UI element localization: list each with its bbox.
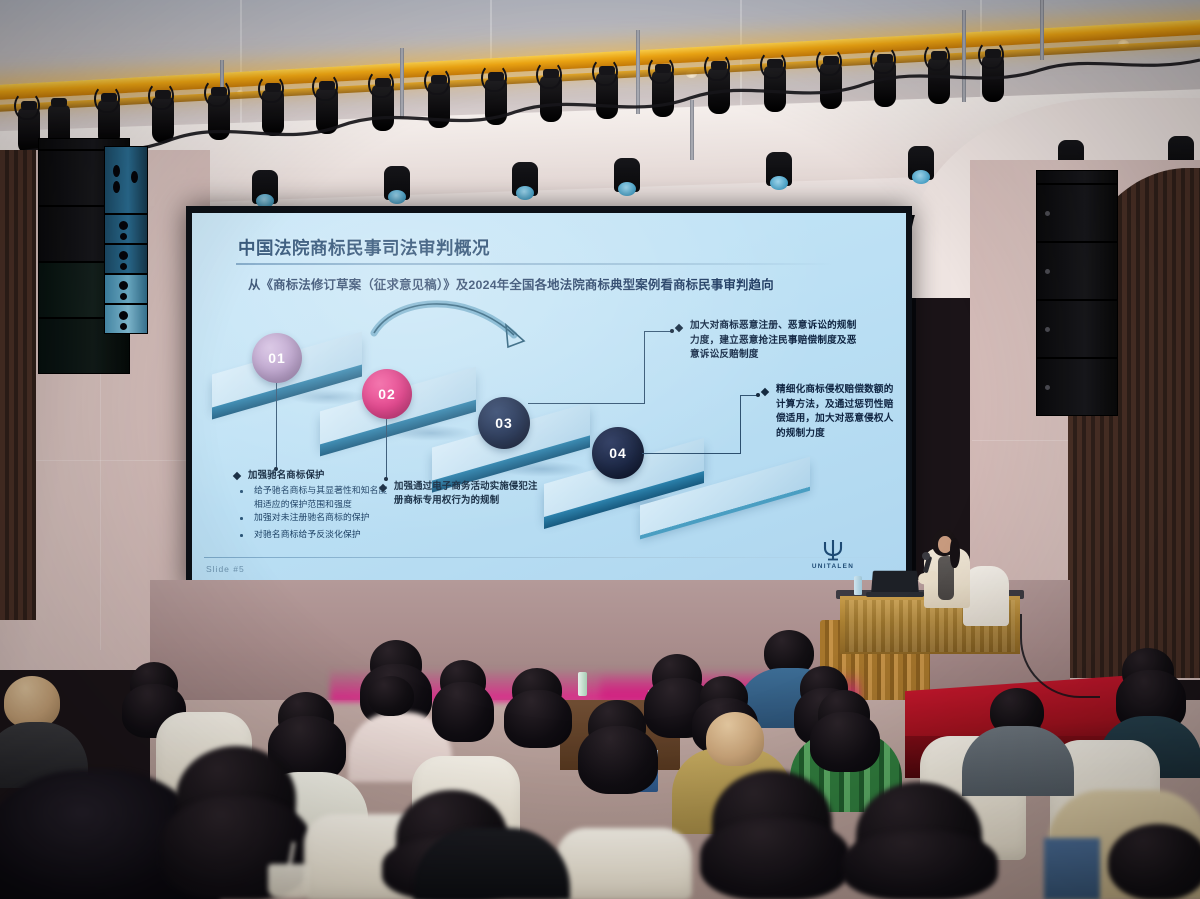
connector-04-h [642,453,740,454]
bullet-diamond-icon [233,472,241,480]
unitalen-logo: UNITALEN [806,538,860,570]
front-row-hair [700,818,850,899]
audience-head [368,676,414,716]
step-node-02: 02 [362,369,412,419]
microphone-head [922,552,930,560]
step-node-02-label: 02 [378,386,396,402]
audience-head-bald [706,712,764,766]
presenter-laptop [871,571,919,595]
stage-light-blue [766,152,792,186]
title-divider [236,263,836,265]
mini-bottle [578,672,587,696]
connector-01 [276,383,277,471]
step-node-03: 03 [478,397,530,449]
front-row-hair [842,830,998,899]
bullet-diamond-icon [675,324,683,332]
wall-seam [36,460,196,461]
sub-bullet-dot [240,490,243,493]
slide-footer-divider [204,557,894,558]
left-speaker-stack-blue-faces [104,146,148,334]
stage-light-blue [512,162,538,196]
projection-screen: 中国法院商标民事司法审判概况 从《商标法修订草案（征求意见稿）》及2024年全国… [186,206,912,592]
presenter-laptop-base [866,592,924,597]
step-node-04: 04 [592,427,644,479]
audience-head-bald [4,676,60,728]
right-bullet-1: 加大对商标恶意注册、恶意诉讼的规制力度，建立恶意抢注民事赔偿制度及恶意诉讼反赔制… [690,319,864,363]
drink-cup [268,864,310,898]
stage-light-blue [908,146,934,180]
stage-light-blue [614,158,640,192]
left-sub-bullet-1: 给予驰名商标与其显著性和知名度相适应的保护范围和强度 [254,484,396,511]
audience-hair [810,712,880,772]
connector-03-h2 [644,331,672,332]
audience-hair [578,726,658,794]
audience-hair [432,682,494,742]
connector-dot [756,393,760,397]
stage-light-blue [252,170,278,204]
presenter-hair-side [950,538,960,568]
audience-hair [504,690,572,748]
lighting-cable-run [0,40,1200,160]
sub-bullet-dot [240,534,243,537]
front-row-jeans [1044,838,1100,899]
left-sub-bullet-2: 加强对未注册驰名商标的保护 [254,511,404,525]
step-node-04-label: 04 [609,445,627,461]
water-bottle [854,576,862,595]
connector-03-v [644,331,645,404]
front-row-chair [556,828,692,899]
slide-number: Slide #5 [206,564,245,574]
left-slat-wall [0,150,36,620]
connector-dot [670,329,674,333]
stage-light-blue [384,166,410,200]
step-node-01-label: 01 [268,350,286,366]
step-node-03-label: 03 [495,415,513,431]
slide-title: 中国法院商标民事司法审判概况 [238,235,490,260]
conference-hall-photo: 中国法院商标民事司法审判概况 从《商标法修订草案（征求意见稿）》及2024年全国… [0,0,1200,899]
wall-seam [100,360,101,650]
left-sub-bullet-3: 对驰名商标给予反淡化保护 [254,528,404,542]
right-speaker-stack [1036,170,1118,416]
logo-wordmark: UNITALEN [806,563,860,570]
wall-seam [972,440,1068,441]
audience-shoulders [962,726,1074,796]
front-row-head [1108,824,1200,899]
slide-subtitle: 从《商标法修订草案（征求意见稿）》及2024年全国各地法院商标典型案例看商标民事… [248,275,868,293]
connector-04-v [740,395,741,454]
bullet-diamond-icon [761,388,769,396]
middle-bullet: 加强通过电子商务活动实施侵犯注册商标专用权行为的规制 [394,479,544,506]
connector-03-h [528,403,644,404]
sub-bullet-dot [240,517,243,520]
step-node-01: 01 [252,333,302,383]
right-bullet-2: 精细化商标侵权赔偿数额的计算方法，及通过惩罚性赔偿适用，加大对恶意侵权人的规制力… [776,383,900,441]
trident-logo-icon [821,538,845,562]
presentation-slide: 中国法院商标民事司法审判概况 从《商标法修订草案（征求意见稿）》及2024年全国… [192,213,906,584]
